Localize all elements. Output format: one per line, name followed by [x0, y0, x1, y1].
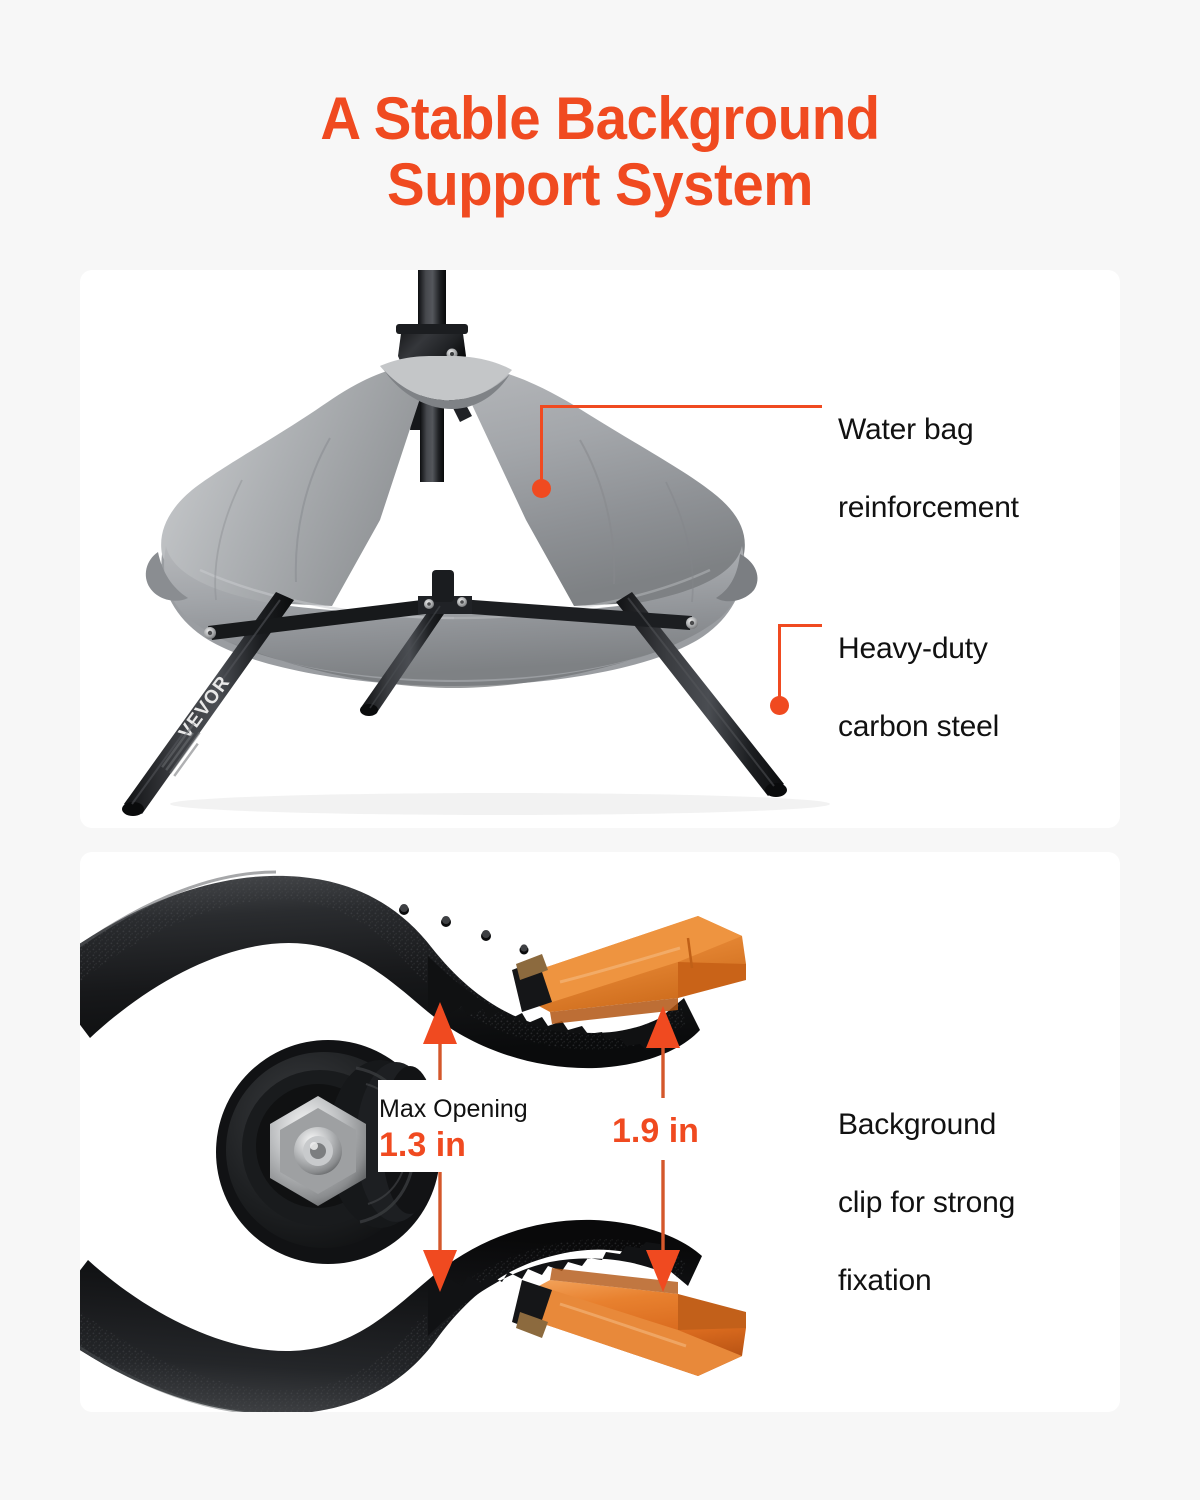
callout-heavy-duty-carbon-steel: Heavy-duty carbon steel	[838, 590, 1098, 785]
callout-water-bag-line-2: reinforcement	[838, 488, 1098, 527]
leader-vertical-carbon-steel	[778, 624, 781, 704]
max-opening-value: 1.3 in	[379, 1126, 466, 1164]
callout-clip-line-2: clip for strong	[838, 1183, 1088, 1222]
leader-horizontal-carbon-steel	[778, 624, 822, 627]
callout-clip-line-1: Background	[838, 1105, 1088, 1144]
callout-carbon-steel-line-1: Heavy-duty	[838, 629, 1098, 668]
callout-background-clip: Background clip for strong fixation	[838, 1066, 1088, 1339]
callout-water-bag-line-1: Water bag	[838, 410, 1098, 449]
callout-clip-line-3: fixation	[838, 1261, 1088, 1300]
callout-water-bag-reinforcement: Water bag reinforcement	[838, 371, 1098, 566]
max-opening-label: Max Opening	[379, 1094, 528, 1124]
infographic-page: A Stable Background Support System	[0, 0, 1200, 1500]
jaw-length-value: 1.9 in	[612, 1112, 699, 1150]
callout-carbon-steel-line-2: carbon steel	[838, 707, 1098, 746]
